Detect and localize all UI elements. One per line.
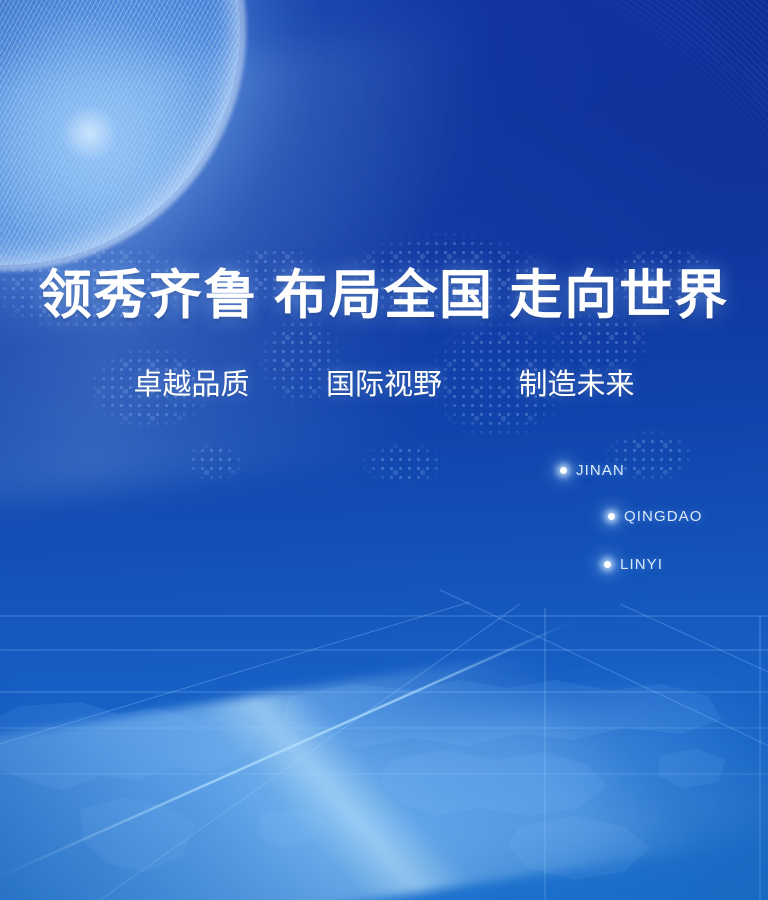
subtitle-group: 卓越品质 国际视野 制造未来 [0, 370, 768, 402]
hero-banner: 领秀齐鲁 布局全国 走向世界 卓越品质 国际视野 制造未来 JINAN QING… [0, 0, 768, 900]
location-pin-icon [604, 561, 611, 568]
city-label: QINGDAO [624, 508, 703, 525]
subtitle-item-1: 国际视野 [326, 370, 442, 402]
city-marker-linyi[interactable]: LINYI [604, 556, 663, 573]
location-pin-icon [560, 467, 567, 474]
subtitle-item-2: 制造未来 [519, 370, 635, 402]
city-marker-qingdao[interactable]: QINGDAO [608, 508, 703, 525]
location-pin-icon [608, 513, 615, 520]
banner-content: 领秀齐鲁 布局全国 走向世界 卓越品质 国际视野 制造未来 JINAN QING… [0, 0, 768, 900]
city-label: LINYI [620, 556, 663, 573]
headline-title: 领秀齐鲁 布局全国 走向世界 [0, 268, 768, 324]
subtitle-item-0: 卓越品质 [133, 370, 249, 402]
city-marker-jinan[interactable]: JINAN [560, 462, 625, 479]
city-label: JINAN [576, 462, 625, 479]
